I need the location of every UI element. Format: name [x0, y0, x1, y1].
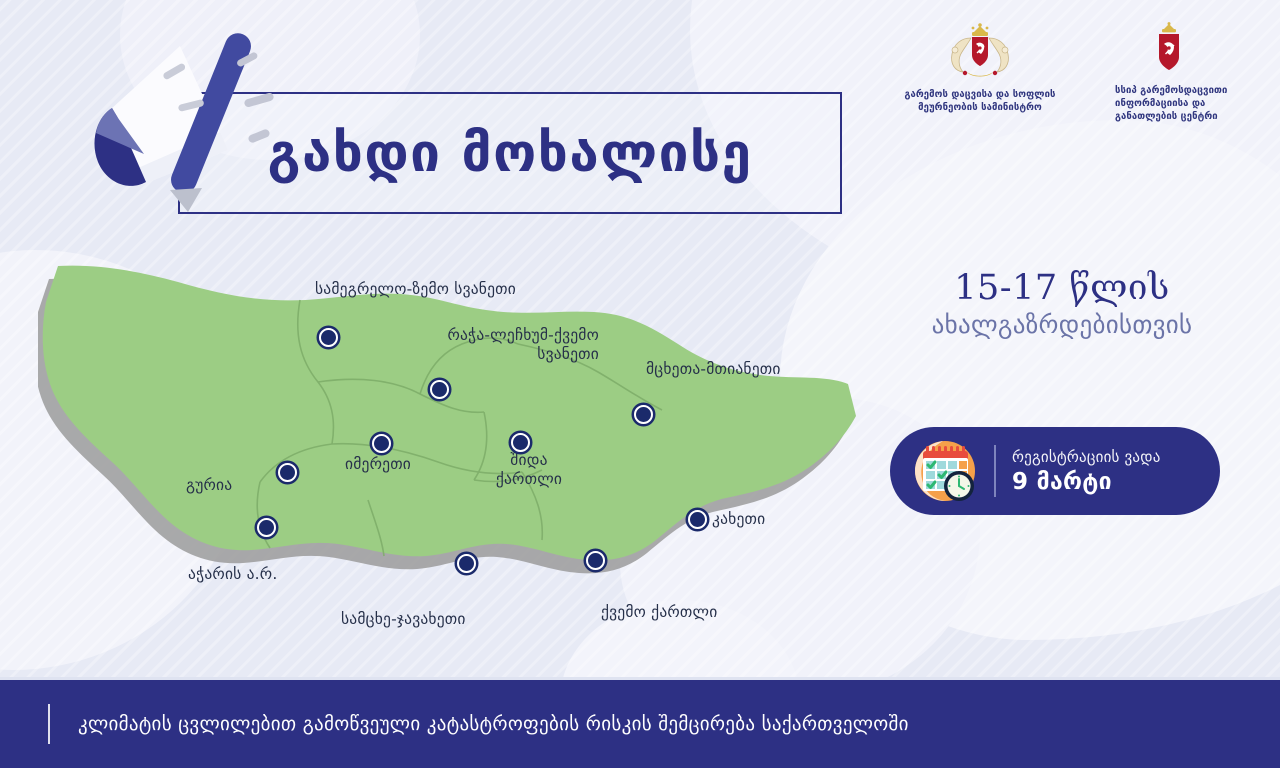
region-marker[interactable] [372, 434, 391, 453]
ministry-logo: გარემოს დაცვისა და სოფლის მეურნეობის სამ… [885, 22, 1075, 115]
georgia-regions-map: სამეგრელო-ზემო სვანეთი რაჭა-ლეჩხუმ-ქვემო… [38, 248, 878, 648]
region-marker[interactable] [257, 518, 276, 537]
audience-info: 15-17 წლის ახალგაზრდებისთვის [892, 268, 1232, 339]
calendar-clock-icon [912, 438, 978, 504]
megaphone-icon [52, 22, 282, 231]
region-label-kvemo-kartli: ქვემო ქართლი [601, 603, 717, 621]
footer-accent-rule [48, 704, 50, 744]
georgia-map-shape [38, 248, 878, 648]
region-label-samtskhe-javakheti: სამცხე-ჯავახეთი [341, 610, 466, 628]
page-title: გახდი მოხალისე [267, 123, 752, 184]
region-marker[interactable] [430, 380, 449, 399]
ministry-logo-caption: გარემოს დაცვისა და სოფლის მეურნეობის სამ… [885, 89, 1075, 115]
logo-group: გარემოს დაცვისა და სოფლის მეურნეობის სამ… [885, 22, 1250, 123]
deadline-date: 9 მარტი [1012, 469, 1161, 495]
footer-project-title: კლიმატის ცვლილებით გამოწვეული კატასტროფე… [78, 713, 909, 735]
region-label-adjara: აჭარის ა.რ. [188, 565, 277, 583]
region-label-mtskheta-mtianeti: მცხეთა-მთიანეთი [646, 360, 781, 378]
region-marker[interactable] [634, 405, 653, 424]
region-marker[interactable] [511, 433, 530, 452]
georgia-coat-of-arms-supporters-icon [941, 22, 1019, 82]
infographic-canvas: გარემოს დაცვისა და სოფლის მეურნეობის სამ… [0, 0, 1280, 768]
registration-deadline-badge: რეგისტრაციის ვადა 9 მარტი [890, 427, 1220, 515]
eiec-logo-caption: სსიპ გარემოსდაცვითი ინფორმაციისა და განა… [1115, 85, 1250, 123]
region-label-kakheti: კახეთი [712, 510, 765, 528]
region-label-shida-kartli: შიდა ქართლი [488, 451, 570, 490]
region-marker[interactable] [457, 554, 476, 573]
region-label-racha-lechkhumi-kvemo-svaneti: რაჭა-ლეჩხუმ-ქვემო სვანეთი [437, 326, 599, 365]
region-label-imereti: იმერეთი [345, 455, 411, 473]
audience-subtitle: ახალგაზრდებისთვის [892, 310, 1232, 339]
pill-divider [994, 445, 996, 497]
age-range-text: 15-17 წლის [892, 268, 1232, 308]
deadline-label: რეგისტრაციის ვადა [1012, 448, 1161, 466]
eiec-logo: სსიპ გარემოსდაცვითი ინფორმაციისა და განა… [1115, 22, 1250, 123]
georgia-shield-emblem-icon [1149, 22, 1189, 78]
footer-banner: კლიმატის ცვლილებით გამოწვეული კატასტროფე… [0, 680, 1280, 768]
region-marker[interactable] [278, 463, 297, 482]
region-label-samegrelo-zemo-svaneti: სამეგრელო-ზემო სვანეთი [315, 280, 516, 298]
region-marker[interactable] [586, 551, 605, 570]
region-marker[interactable] [688, 510, 707, 529]
region-marker[interactable] [319, 328, 338, 347]
region-label-guria: გურია [186, 476, 232, 494]
